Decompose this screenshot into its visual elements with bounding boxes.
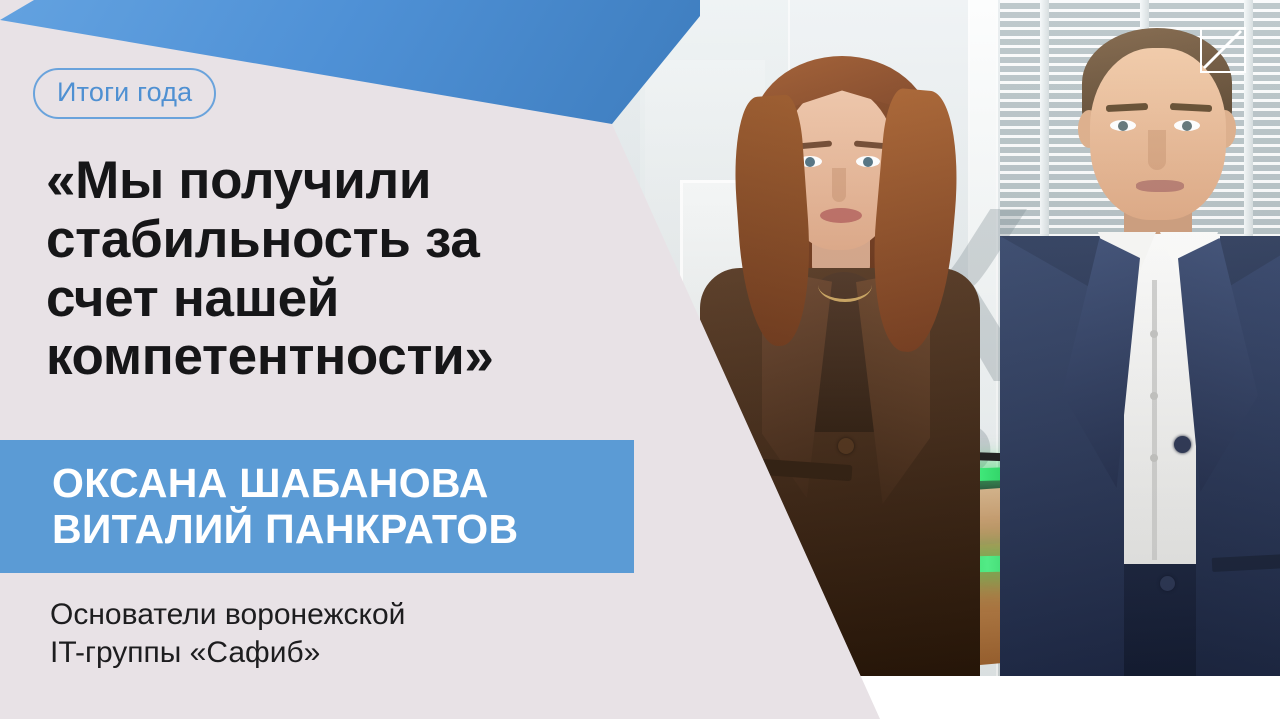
speaker-name-line-2: ВИТАЛИЙ ПАНКРАТОВ — [52, 507, 634, 553]
man-jacket-button-bottom — [1160, 576, 1175, 591]
man-shirt-button-1 — [1150, 330, 1158, 338]
slide-canvas: К 3 — [0, 0, 1280, 719]
speaker-role-subtitle: Основатели воронежской IT-группы «Сафиб» — [50, 596, 610, 673]
man-lips — [1136, 180, 1184, 192]
man-shirt-button-3 — [1150, 454, 1158, 462]
man-nose — [1148, 130, 1166, 170]
woman-nose — [832, 168, 846, 202]
speaker-name-line-1: ОКСАНА ШАБАНОВА — [52, 461, 634, 507]
square-diagonal-logo-icon[interactable] — [1200, 27, 1246, 73]
rubric-badge[interactable]: Итоги года — [33, 68, 216, 119]
woman-lips — [820, 208, 862, 223]
man-eye-right — [1174, 120, 1200, 131]
man-shirt-button-2 — [1150, 392, 1158, 400]
subtitle-line-1: Основатели воронежской — [50, 596, 610, 634]
man-jacket-button-top — [1174, 436, 1191, 453]
woman-eye-right — [856, 156, 880, 167]
woman-necklace — [818, 268, 872, 302]
subtitle-line-2: IT-группы «Сафиб» — [50, 634, 610, 672]
woman-jacket-button — [838, 438, 854, 454]
speaker-name-banner: ОКСАНА ШАБАНОВА ВИТАЛИЙ ПАНКРАТОВ — [0, 440, 634, 573]
quote-headline: «Мы получили стабильность за счет нашей … — [46, 152, 606, 387]
man-eye-left — [1110, 120, 1136, 131]
man-shirt-placket — [1152, 280, 1157, 560]
